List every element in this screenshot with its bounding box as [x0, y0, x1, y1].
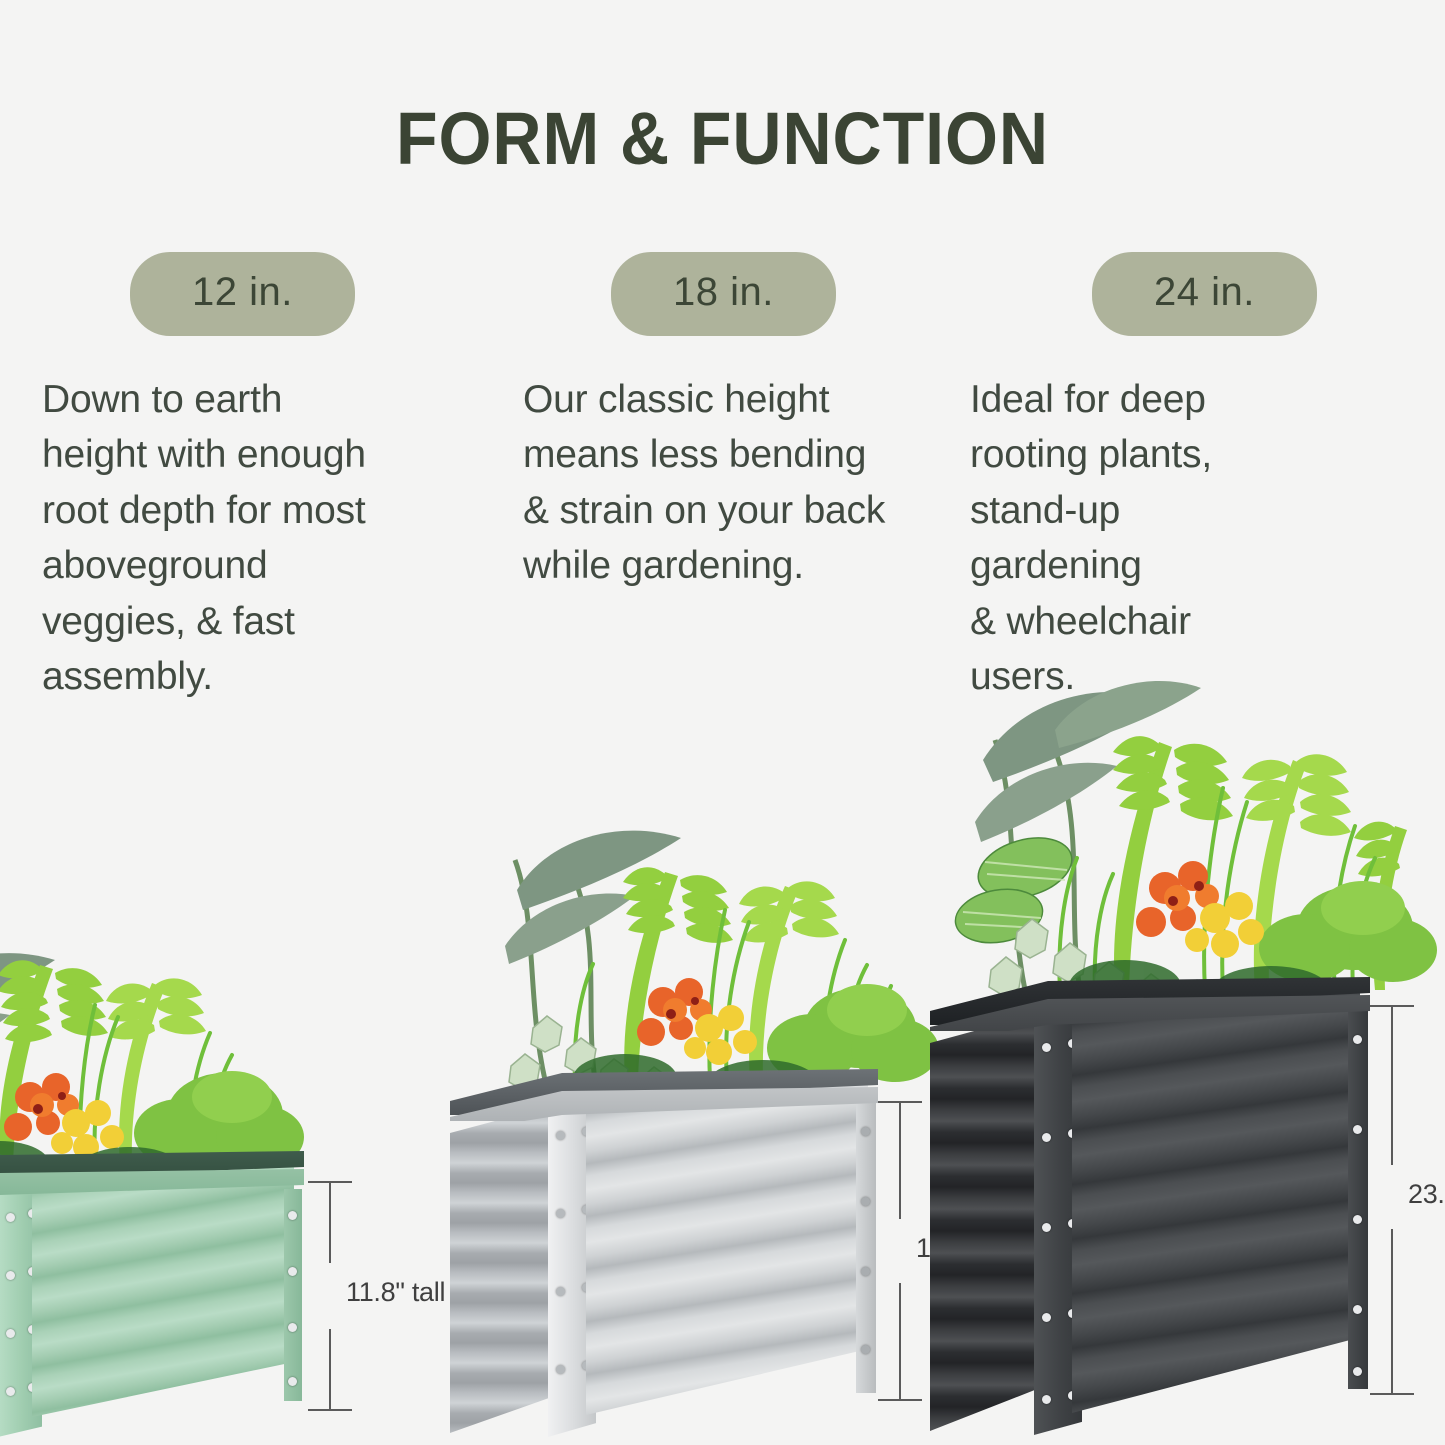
dimension-line-upper — [1391, 1005, 1393, 1165]
rivet — [288, 1377, 297, 1386]
badge-wrap-24in: 24 in. — [970, 252, 1443, 336]
badge-wrap-18in: 18 in. — [523, 252, 962, 336]
dimension-cap-bottom — [1370, 1393, 1414, 1395]
rivet — [556, 1131, 565, 1140]
feature-column-12in: 12 in. Down to earth height with enough … — [0, 252, 481, 682]
rivet — [556, 1209, 565, 1218]
dimension-label-green: 11.8" tall — [346, 1277, 445, 1308]
planter-end-face-charcoal — [930, 1011, 1048, 1431]
planter-front-face-charcoal — [1072, 993, 1360, 1413]
dimension-silver-bed: 17.7" tall — [870, 1101, 930, 1401]
rivet — [861, 1127, 870, 1136]
rivet — [1042, 1133, 1051, 1142]
plant-foliage-silver-bed — [450, 760, 970, 1110]
rivet — [1042, 1395, 1051, 1404]
planter-front-face-silver — [586, 1085, 868, 1415]
rivet — [1353, 1035, 1362, 1044]
planter-box-charcoal — [930, 970, 1400, 1445]
feature-description-12in: Down to earth height with enough root de… — [42, 372, 442, 704]
rivet — [556, 1287, 565, 1296]
rivet — [288, 1267, 297, 1276]
dimension-label-charcoal: 23.6" tall — [1408, 1179, 1445, 1210]
feature-column-18in: 18 in. Our classic height means less ben… — [481, 252, 962, 682]
rivet — [1353, 1215, 1362, 1224]
rivet — [6, 1213, 15, 1222]
rivet — [288, 1323, 297, 1332]
plant-foliage-charcoal-bed — [930, 630, 1445, 1020]
page-title: FORM & FUNCTION — [58, 96, 1387, 181]
flower-cluster — [637, 978, 757, 1065]
rivet — [861, 1267, 870, 1276]
dimension-line-lower — [899, 1283, 901, 1399]
flower-cluster — [1136, 861, 1264, 958]
rivet — [6, 1271, 15, 1280]
feature-column-24in: 24 in. Ideal for deep rooting plants, st… — [962, 252, 1443, 682]
rivet — [6, 1329, 15, 1338]
rivet — [1353, 1305, 1362, 1314]
rivet — [556, 1365, 565, 1374]
dimension-green-bed: 11.8" tall — [300, 1181, 360, 1411]
product-images: 11.8" tall — [0, 690, 1445, 1445]
dimension-charcoal-bed: 23.6" tall — [1362, 1005, 1422, 1395]
dimension-cap-bottom — [878, 1399, 922, 1401]
feature-columns: 12 in. Down to earth height with enough … — [0, 252, 1445, 682]
planter-front-face-green — [32, 1167, 294, 1417]
dimension-line-lower — [329, 1329, 331, 1409]
dimension-line-upper — [899, 1101, 901, 1219]
dimension-line-lower — [1391, 1229, 1393, 1393]
feature-description-24in: Ideal for deep rooting plants, stand-up … — [970, 372, 1370, 704]
size-badge-24in: 24 in. — [1092, 252, 1317, 336]
size-badge-12in: 12 in. — [130, 252, 355, 336]
rivet — [1042, 1313, 1051, 1322]
rivet — [1353, 1125, 1362, 1134]
rivet — [6, 1387, 15, 1396]
planter-box-silver — [450, 1060, 920, 1445]
product-silver-raised-bed: 17.7" tall — [450, 745, 970, 1445]
feature-description-18in: Our classic height means less bending & … — [523, 372, 943, 594]
rivet — [1353, 1367, 1362, 1376]
size-badge-18in: 18 in. — [611, 252, 836, 336]
planter-box-green — [0, 1145, 350, 1445]
rivet — [1042, 1043, 1051, 1052]
badge-wrap-12in: 12 in. — [42, 252, 481, 336]
product-charcoal-raised-bed: 23.6" tall — [930, 685, 1445, 1445]
rivet — [1042, 1223, 1051, 1232]
rivet — [288, 1211, 297, 1220]
rivet — [861, 1197, 870, 1206]
product-green-raised-bed: 11.8" tall — [0, 825, 350, 1445]
dimension-cap-bottom — [308, 1409, 352, 1411]
dimension-line-upper — [329, 1181, 331, 1263]
rivet — [861, 1345, 870, 1354]
planter-end-face-silver — [450, 1103, 562, 1433]
